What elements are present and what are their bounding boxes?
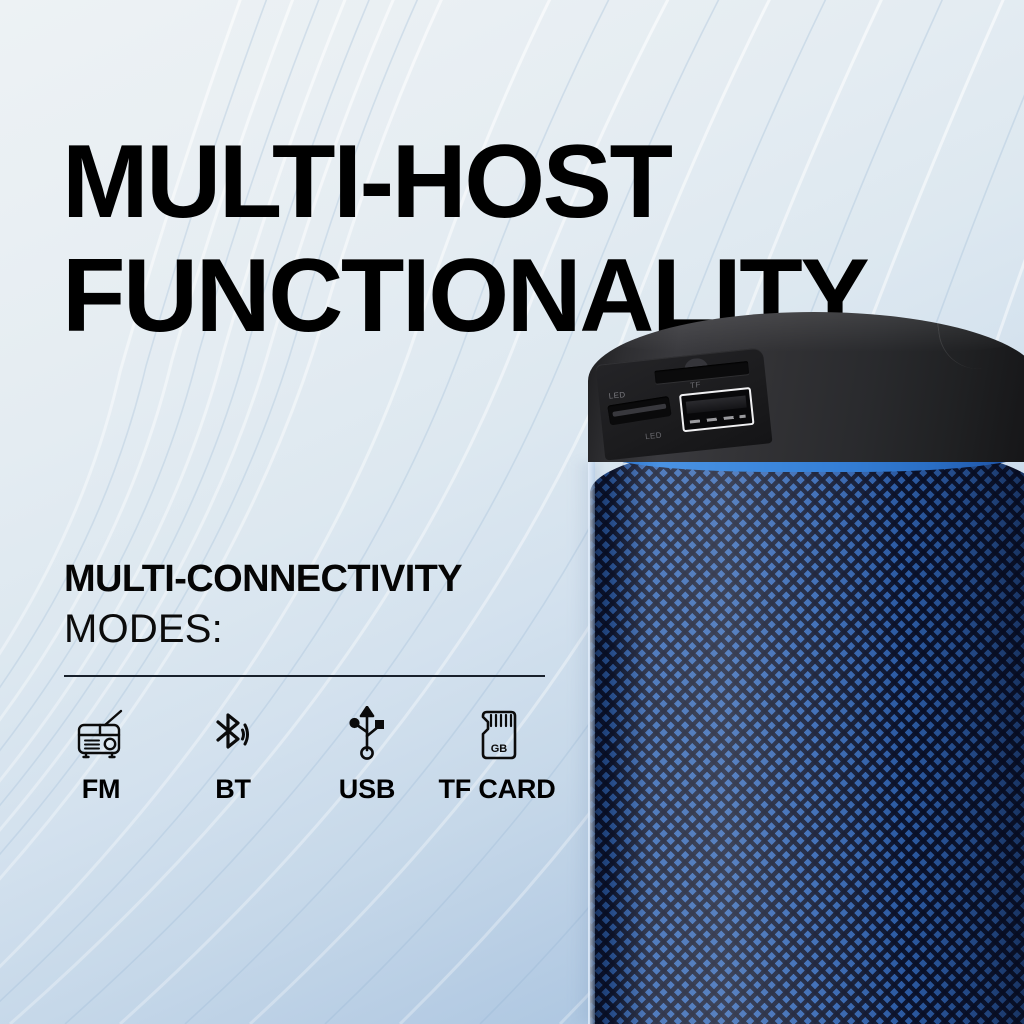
sd-card-icon: GB [474,706,520,762]
speaker-cap-seam [936,312,1006,374]
mode-label-tf-card: TF CARD [438,774,555,805]
usb-port-tongue [686,396,747,414]
speaker-top-cap: TF LED LED [588,312,1024,462]
speaker-edge-highlight [588,452,595,1024]
product-marketing-image: MULTI-HOST FUNCTIONALITY MULTI-CONNECTIV… [0,0,1024,1024]
mode-label-bt: BT [215,774,251,805]
mode-item-fm: FM [64,706,138,805]
connectivity-section: MULTI-CONNECTIVITY MODES: [64,560,564,677]
mode-label-fm: FM [82,774,121,805]
mode-item-bt: BT [196,706,270,805]
usb-icon [345,706,389,762]
led-label-top: LED [608,390,626,401]
led-label-bottom: LED [645,431,663,442]
section-title-light: MODES: [64,609,564,649]
radio-icon [75,706,127,762]
mode-item-usb: USB [330,706,404,805]
connectivity-modes-row: FM BT [64,706,564,805]
usb-port-pins [690,415,746,424]
section-title-bold: MULTI-CONNECTIVITY [64,560,564,598]
speaker-mesh-grille [590,440,1024,1024]
speaker-port-panel: TF LED LED [595,347,772,460]
bluetooth-icon [208,706,258,762]
tf-slot-label: TF [690,380,702,390]
mode-label-usb: USB [339,774,395,805]
headline-line-1: MULTI-HOST [62,132,962,234]
mode-item-tf-card: GB TF CARD [460,706,534,805]
usb-a-port [679,387,755,432]
section-divider [64,675,545,677]
sd-card-capacity-label: GB [491,743,508,755]
product-image-speaker: TF LED LED [588,312,1024,1024]
aux-micro-usb-port [607,396,671,425]
speaker-body: TF LED LED [588,312,1024,1024]
